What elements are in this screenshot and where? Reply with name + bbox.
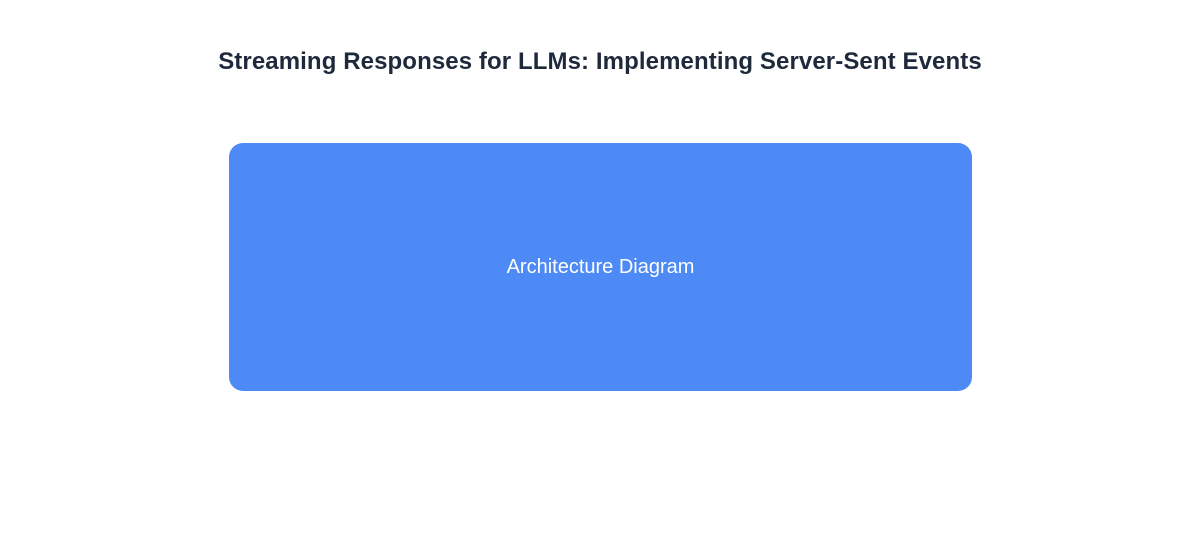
figure-container: Architecture Diagram [229, 143, 972, 391]
architecture-diagram-label: Architecture Diagram [507, 254, 695, 280]
architecture-diagram-placeholder: Architecture Diagram [229, 143, 972, 391]
page-title: Streaming Responses for LLMs: Implementi… [0, 46, 1200, 78]
document-page: Streaming Responses for LLMs: Implementi… [0, 0, 1200, 536]
